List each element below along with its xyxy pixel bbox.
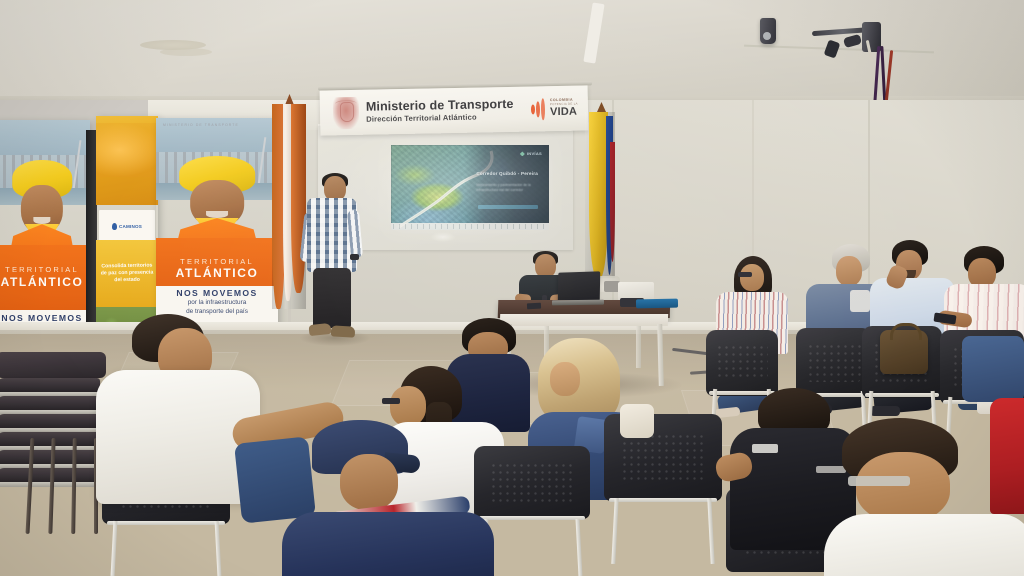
attendee-head: [340, 454, 398, 510]
caminos-message: Consolida territorios de paz con presenc…: [100, 262, 154, 284]
stack-top-seat: [0, 352, 106, 378]
chair-leg: [707, 498, 714, 564]
chair-rail: [609, 498, 718, 502]
attendee-head: [836, 256, 862, 286]
chair-rail: [865, 393, 939, 397]
projector-hotspot: [430, 232, 456, 242]
slide-footer-ticks: [393, 224, 549, 229]
banner-territorial-label-2: TERRITORIAL: [180, 258, 254, 266]
attendee-white-shirt: [824, 514, 1024, 576]
slide-accent-bar: [478, 205, 538, 209]
banner-region-block: TERRITORIAL ATLÁNTICO: [0, 245, 90, 310]
banner-top-mark: MINISTERIO DE TRANSPORTE: [163, 123, 239, 128]
smartphone[interactable]: [527, 303, 541, 310]
attendee-head: [740, 264, 764, 291]
keyboard[interactable]: [636, 299, 678, 309]
meeting-room-photo: INVÍAS Corredor Quibdó - Pereira Mejoram…: [0, 0, 1024, 576]
caminos-logo: CAMINOS: [99, 210, 155, 242]
eyeglasses-icon: [382, 398, 400, 404]
colombia-potencia-de-la-vida-logo: COLOMBIA POTENCIA DE LA VIDA: [531, 97, 578, 120]
flag-atlantico: [272, 104, 306, 309]
attendee-man-navy-cap: [300, 420, 500, 576]
caminos-message-block: Consolida territorios de paz con presenc…: [96, 240, 158, 307]
flag-colombia: [585, 112, 615, 278]
slide-invias-logo: INVÍAS: [520, 151, 542, 156]
attendee-head: [856, 452, 950, 522]
chair-back: [706, 330, 778, 396]
slide-title: Corredor Quibdó - Pereira: [476, 171, 543, 177]
polo-logo-icon: [752, 444, 778, 453]
ministerio-line2: Dirección Territorial Atlántico: [366, 111, 531, 124]
projected-slide: INVÍAS Corredor Quibdó - Pereira Mejoram…: [391, 145, 549, 230]
chair-leg: [612, 498, 619, 564]
flag-shading: [272, 104, 306, 309]
slide-logo-text: INVÍAS: [527, 151, 542, 156]
eyeglasses-icon: [738, 272, 752, 277]
attendee-navy-polo: [282, 512, 494, 576]
colombia-logo-text: COLOMBIA POTENCIA DE LA VIDA: [550, 99, 578, 118]
backpack[interactable]: [880, 330, 928, 374]
slide-footer: [391, 223, 549, 230]
flag-colombia-shading: [585, 112, 615, 278]
ministerio-banner: Ministerio de Transporte Dirección Terri…: [320, 85, 589, 135]
banner-region-label: ATLÁNTICO: [1, 276, 84, 289]
handbag[interactable]: [620, 404, 654, 438]
ministerio-banner-text: Ministerio de Transporte Dirección Terri…: [366, 97, 531, 124]
attendee-head: [550, 362, 580, 396]
colombia-wave-icon: [531, 98, 547, 120]
eyeglasses-icon: [848, 476, 910, 486]
ministry-crest-icon: [333, 96, 360, 128]
chair-leg: [575, 519, 582, 576]
banner-region-label-2: ATLÁNTICO: [176, 267, 259, 280]
banner-slogan-line1-2: por la infraestructura: [161, 299, 273, 307]
slide-body-text: Mejoramiento y pavimentación de la infra…: [476, 183, 541, 193]
banner-slogan-head-2: NOS MOVEMOS: [161, 289, 273, 298]
slide-logo-mark-icon: [520, 151, 525, 156]
laptop-screen[interactable]: [558, 271, 600, 303]
banner-territorial-label: TERRITORIAL: [5, 266, 79, 274]
laptop-keyboard[interactable]: [552, 300, 604, 306]
caminos-banner-photo: [96, 116, 158, 205]
attendee-collar: [850, 290, 870, 312]
attendee-jeans-far-right: [962, 336, 1024, 402]
ceiling-vent-inner: [160, 48, 212, 56]
attendee-man-white-shirt-glasses: [834, 418, 1024, 576]
vida-label: VIDA: [550, 106, 578, 118]
caminos-logo-text: CAMINOS: [119, 224, 142, 229]
security-camera-icon: [760, 18, 776, 44]
caminos-logo-mark-icon: [112, 223, 117, 230]
presenter-watch: [350, 254, 359, 260]
banner-worker-smile-2: [206, 211, 228, 218]
